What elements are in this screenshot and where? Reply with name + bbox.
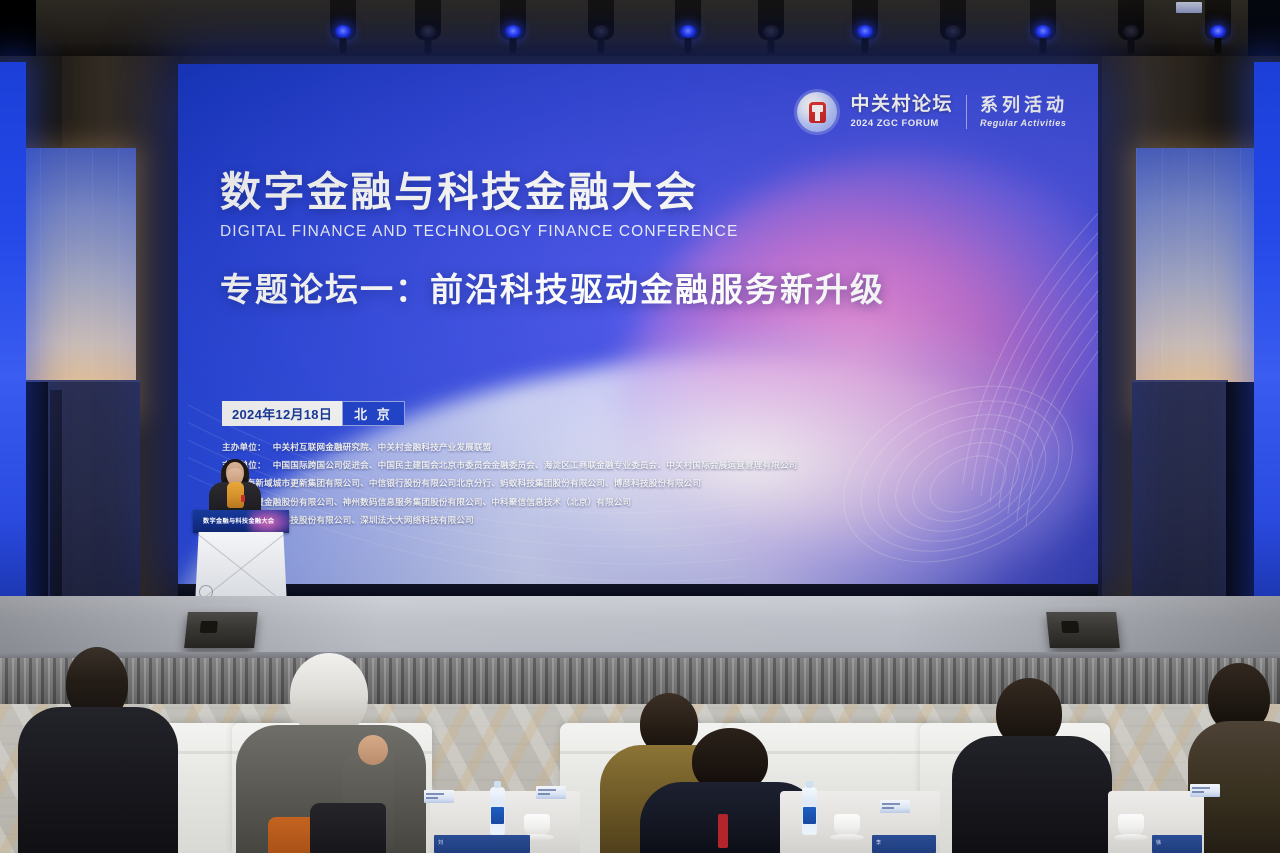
podium-banner-text: 数字金融与科技金融大会 [203,516,274,525]
stage-light-icon [1118,0,1144,40]
conference-hall-scene: 中关村论坛 2024 ZGC FORUM 系列活动 Regular Activi… [0,0,1280,853]
water-bottle [802,787,817,835]
audience-body [952,736,1112,853]
stage-light-icon [1030,0,1056,40]
forum-logo-lockup: 中关村论坛 2024 ZGC FORUM 系列活动 Regular Activi… [797,92,1068,132]
audience-member [952,678,1112,853]
logo-brand-en: 2024 ZGC FORUM [850,118,953,129]
credit-line: 上海合合信息科技股份有限公司、深圳法大大网络科技有限公司 [222,511,922,529]
logo-divider [966,95,967,129]
stage-light-icon [330,0,356,40]
credit-line: 马上消费金融股份有限公司、神州数码信息服务集团股份有限公司、中科聚信信息技术（北… [222,493,922,511]
conference-title-en: DIGITAL FINANCE AND TECHNOLOGY FINANCE C… [220,223,885,241]
tea-cup [524,814,550,836]
led-side-panel-right [1254,62,1280,632]
credit-line: 北京海新域城市更新集团有限公司、中信银行股份有限公司北京分行、蚂蚁科技集团股份有… [222,474,922,492]
podium-banner: 数字金融与科技金融大会 [193,510,289,533]
logo-series-en: Regular Activities [980,118,1068,128]
credit-text: 中关村互联网金融研究院、中关村金融科技产业发展联盟 [273,442,492,452]
event-city: 北 京 [342,401,405,426]
exit-sign-icon [1176,2,1202,13]
stage-light-icon [500,0,526,40]
date-location-strip: 2024年12月18日 北 京 [222,401,405,426]
headline-block: 数字金融与科技金融大会 DIGITAL FINANCE AND TECHNOLO… [220,170,885,311]
event-date: 2024年12月18日 [222,401,342,426]
table-tent-card [424,790,454,803]
credit-line: 主办单位：中关村互联网金融研究院、中关村金融科技产业发展联盟 [222,438,922,456]
credit-label: 主办单位： [222,442,266,452]
conference-title-zh: 数字金融与科技金融大会 [220,170,885,216]
stage-light-icon [1205,0,1231,40]
logo-series-zh: 系列活动 [980,96,1068,115]
led-side-panel-left [0,62,26,632]
stage-light-icon [675,0,701,40]
coffee-table: 李 [780,791,940,853]
zgc-forum-badge-icon [797,92,837,132]
coffee-table: 徐 [1108,791,1204,853]
audience-body [18,707,178,853]
tea-cup [1118,814,1144,836]
ceiling-edge-left [0,0,36,62]
name-card: 刘 [434,835,530,853]
stage-light-icon [852,0,878,40]
name-card: 李 [872,835,936,853]
stage-monitor-left [184,612,258,648]
credit-text: 马上消费金融股份有限公司、神州数码信息服务集团股份有限公司、中科聚信信息技术（北… [229,497,631,507]
stage-light-icon [588,0,614,40]
tea-cup [834,814,860,836]
table-tent-card [536,786,566,799]
main-led-screen: 中关村论坛 2024 ZGC FORUM 系列活动 Regular Activi… [178,64,1098,584]
audience-lanyard [718,814,728,848]
audience-member [232,653,432,853]
ceiling-edge-right [1248,0,1280,62]
forum-session-title: 专题论坛一：前沿科技驱动金融服务新升级 [220,263,885,311]
stage-monitor-right [1046,612,1120,648]
credit-text: 北京海新域城市更新集团有限公司、中信银行股份有限公司北京分行、蚂蚁科技集团股份有… [229,478,701,488]
water-bottle [490,787,505,835]
speaker-badge [241,495,245,502]
name-card-text: 徐 [1156,839,1161,846]
table-tent-card [880,800,910,813]
stage-light-icon [415,0,441,40]
name-card-text: 李 [876,839,881,846]
name-card-text: 刘 [438,839,443,846]
audience-bag [310,803,386,853]
organizer-credits: 主办单位：中关村互联网金融研究院、中关村金融科技产业发展联盟 支持单位：中国国际… [222,438,922,529]
wall-glow-panel-right [1136,148,1264,413]
audience-hand [358,735,388,765]
wall-glow-panel-left [14,148,136,413]
logo-brand-zh: 中关村论坛 [850,95,953,115]
stage-light-icon [758,0,784,40]
credit-line: 支持单位：中国国际跨国公司促进会、中国民主建国会北京市委员会金融委员会、海淀区工… [222,456,922,474]
stage-light-icon [940,0,966,40]
credit-text: 中国国际跨国公司促进会、中国民主建国会北京市委员会金融委员会、海淀区工商联金融专… [273,460,798,470]
table-tent-card [1190,784,1220,797]
audience-member [18,643,178,853]
podium: 数字金融与科技金融大会 [193,510,289,605]
name-card: 徐 [1152,835,1202,853]
